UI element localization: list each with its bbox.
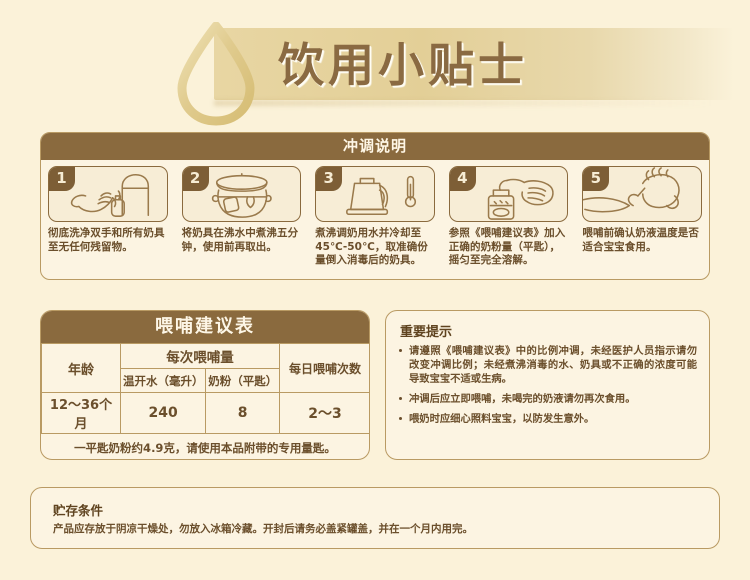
feeding-table-note: 一平匙奶粉约4.9克，请使用本品附带的专用量匙。 — [41, 440, 369, 456]
step-1-number: 1 — [48, 166, 75, 191]
col-header-powder: 奶粉（平匙） — [206, 369, 280, 393]
table-row: 12～36个月 240 8 2～3 — [42, 393, 371, 434]
note-item: 请遵照《喂哺建议表》中的比例冲调，未经医护人员指示请勿改变冲调比例；未经煮沸消毒… — [398, 344, 697, 386]
preparation-panel: 冲调说明 — [40, 132, 710, 280]
storage-title: 贮存条件 — [53, 500, 697, 519]
step-5-illustration: 5 — [582, 166, 702, 222]
feeding-table: 年龄 每次喂哺量 每日喂哺次数 温开水（毫升） 奶粉（平匙） 12～36个月 2… — [41, 343, 370, 434]
bullet-icon — [399, 397, 402, 400]
col-header-age: 年龄 — [42, 344, 121, 393]
storage-text: 产品应存放于阴凉干燥处，勿放入冰箱冷藏。开封后请务必盖紧罐盖，并在一个月内用完。 — [53, 522, 697, 536]
preparation-header: 冲调说明 — [41, 133, 709, 160]
important-notes-panel: 重要提示 请遵照《喂哺建议表》中的比例冲调，未经医护人员指示请勿改变冲调比例；未… — [385, 310, 710, 460]
storage-panel: 贮存条件 产品应存放于阴凉干燥处，勿放入冰箱冷藏。开封后请务必盖紧罐盖，并在一个… — [30, 487, 720, 549]
step-1-text: 彻底洗净双手和所有奶具至无任何残留物。 — [48, 227, 168, 254]
step-3-illustration: 3 — [315, 166, 435, 222]
step-1-illustration: 1 — [48, 166, 168, 222]
step-4-illustration: 4 — [449, 166, 569, 222]
feeding-table-header: 喂哺建议表 — [41, 311, 369, 343]
cell-age: 12～36个月 — [42, 393, 121, 434]
step-2-number: 2 — [182, 166, 209, 191]
cell-water: 240 — [121, 393, 206, 434]
prep-step-4: 4 参照《喂哺建议表》加入正确的奶粉量（平匙），摇匀至完全溶解。 — [442, 160, 576, 280]
step-2-text: 将奶具在沸水中煮沸五分钟，使用前再取出。 — [182, 227, 302, 254]
prep-step-2: 2 将奶具在沸水中煮沸五分钟，使用前再取出。 — [175, 160, 309, 280]
note-text: 喂奶时应细心照料宝宝，以防发生意外。 — [409, 413, 594, 425]
step-5-number: 5 — [582, 166, 609, 191]
prep-step-3: 3 煮沸调奶用水并冷却至45℃-50℃，取准确份量倒入消毒后的奶具。 — [308, 160, 442, 280]
step-2-illustration: 2 — [182, 166, 302, 222]
page-title: 饮用小贴士 — [278, 34, 698, 96]
cell-powder: 8 — [206, 393, 280, 434]
note-item: 冲调后应立即喂哺，未喝完的奶液请勿再次食用。 — [398, 392, 697, 406]
step-5-text: 喂哺前确认奶液温度是否适合宝宝食用。 — [582, 227, 702, 254]
bullet-icon — [399, 349, 402, 352]
step-4-text: 参照《喂哺建议表》加入正确的奶粉量（平匙），摇匀至完全溶解。 — [449, 227, 569, 268]
preparation-steps: 1 彻底洗净双手和所有奶具至无任何残留物。 — [41, 160, 709, 280]
bullet-icon — [399, 417, 402, 420]
water-drop-icon — [168, 22, 264, 126]
step-3-text: 煮沸调奶用水并冷却至45℃-50℃，取准确份量倒入消毒后的奶具。 — [315, 227, 435, 268]
table-header-row-1: 年龄 每次喂哺量 每日喂哺次数 — [42, 344, 371, 369]
title-banner: 饮用小贴士 — [0, 0, 750, 128]
col-header-per-feed: 每次喂哺量 — [121, 344, 280, 369]
note-text: 请遵照《喂哺建议表》中的比例冲调，未经医护人员指示请勿改变冲调比例；未经煮沸消毒… — [409, 345, 697, 385]
col-header-frequency: 每日喂哺次数 — [280, 344, 371, 393]
prep-step-5: 5 喂哺前确认奶液温度是否适合宝宝食用。 — [575, 160, 709, 280]
feeding-table-panel: 喂哺建议表 年龄 每次喂哺量 每日喂哺次数 温开水（毫升） 奶粉（平匙） 12～… — [40, 310, 370, 460]
cell-frequency: 2～3 — [280, 393, 371, 434]
step-3-number: 3 — [315, 166, 342, 191]
step-4-number: 4 — [449, 166, 476, 191]
important-notes-title: 重要提示 — [400, 321, 697, 340]
note-text: 冲调后应立即喂哺，未喝完的奶液请勿再次食用。 — [409, 393, 636, 405]
col-header-water: 温开水（毫升） — [121, 369, 206, 393]
prep-step-1: 1 彻底洗净双手和所有奶具至无任何残留物。 — [41, 160, 175, 280]
note-item: 喂奶时应细心照料宝宝，以防发生意外。 — [398, 412, 697, 426]
